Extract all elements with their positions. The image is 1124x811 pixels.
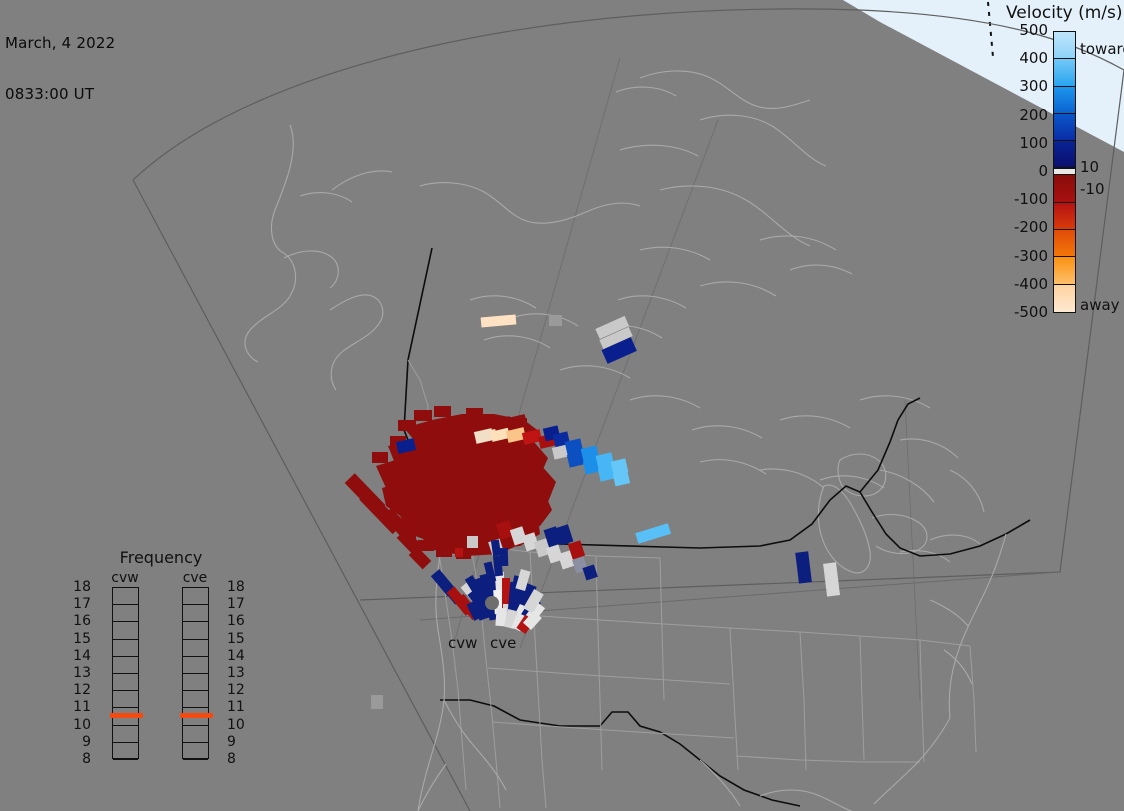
frequency-scale-tick: 11 bbox=[69, 700, 91, 714]
ground-scatter-lower-label: -10 bbox=[1080, 180, 1105, 198]
frequency-scale-tick: 10 bbox=[227, 718, 249, 732]
away-label: away bbox=[1080, 296, 1120, 314]
frequency-scale-tick: 11 bbox=[227, 700, 249, 714]
ground-scatter-upper-label: 10 bbox=[1080, 158, 1099, 176]
frequency-scale-tick: 14 bbox=[227, 649, 249, 663]
toward-label: toward bbox=[1080, 40, 1124, 58]
colorbar-tick-500: 500 bbox=[1019, 21, 1048, 39]
colorbar-band--400__-300 bbox=[1054, 257, 1075, 284]
frequency-panel-title: Frequency bbox=[85, 548, 237, 567]
colorbar-tick-0: 0 bbox=[1038, 162, 1048, 180]
frequency-bar-segment bbox=[113, 622, 138, 639]
frequency-scale-tick: 17 bbox=[227, 597, 249, 611]
frequency-bar-segment bbox=[183, 605, 208, 622]
frequency-scale-tick: 8 bbox=[227, 752, 249, 766]
colorbar-tick-neg200: -200 bbox=[1014, 218, 1048, 236]
colorbar-band-400__500 bbox=[1054, 32, 1075, 59]
frequency-scale-tick: 18 bbox=[227, 580, 249, 594]
colorbar-tick-200: 200 bbox=[1019, 106, 1048, 124]
timestamp-time: 0833:00 UT bbox=[5, 86, 115, 103]
frequency-bar-segment bbox=[183, 657, 208, 674]
frequency-scale-tick: 13 bbox=[227, 666, 249, 680]
frequency-bar-segment bbox=[183, 726, 208, 743]
timestamp: March, 4 2022 0833:00 UT bbox=[5, 1, 115, 137]
site-label-cve: cve bbox=[490, 634, 516, 652]
colorbar-tick-neg300: -300 bbox=[1014, 247, 1048, 265]
colorbar-band--500__-400 bbox=[1054, 285, 1075, 312]
frequency-scale-tick: 9 bbox=[69, 735, 91, 749]
frequency-scale-tick: 12 bbox=[69, 683, 91, 697]
frequency-scale-tick: 9 bbox=[227, 735, 249, 749]
colorbar-band--100__-10 bbox=[1054, 175, 1075, 202]
frequency-scale-cvw: 18171615141312111098 bbox=[69, 587, 91, 759]
frequency-bar-segment bbox=[113, 588, 138, 605]
frequency-scale-tick: 15 bbox=[227, 632, 249, 646]
colorbar-band-300__400 bbox=[1054, 59, 1075, 86]
frequency-bar-segment bbox=[113, 657, 138, 674]
velocity-legend: Velocity (m/s) 5004003002001000-100-200-… bbox=[960, 0, 1124, 330]
frequency-column-label-cvw: cvw bbox=[95, 570, 155, 587]
frequency-scale-tick: 16 bbox=[227, 614, 249, 628]
frequency-bar-segment bbox=[113, 726, 138, 743]
frequency-bar-segment bbox=[113, 691, 138, 708]
frequency-bar-segment bbox=[183, 691, 208, 708]
colorbar-band-100__200 bbox=[1054, 114, 1075, 141]
colorbar-tick-100: 100 bbox=[1019, 134, 1048, 152]
colorbar-tick-neg100: -100 bbox=[1014, 190, 1048, 208]
velocity-legend-title: Velocity (m/s) bbox=[1006, 3, 1123, 23]
frequency-panel: Frequency cvw18171615141312111098cve1817… bbox=[85, 548, 237, 800]
colorbar-band--200__-100 bbox=[1054, 203, 1075, 230]
velocity-colorbar bbox=[1053, 31, 1076, 313]
frequency-marker-cve bbox=[180, 713, 213, 718]
frequency-marker-cvw bbox=[110, 713, 143, 718]
colorbar-tick-300: 300 bbox=[1019, 77, 1048, 95]
timestamp-date: March, 4 2022 bbox=[5, 35, 115, 52]
frequency-column-label-cve: cve bbox=[165, 570, 225, 587]
site-label-cvw: cvw bbox=[448, 634, 477, 652]
colorbar-band-200__300 bbox=[1054, 87, 1075, 114]
colorbar-band-10__100 bbox=[1054, 141, 1075, 168]
frequency-bar-segment bbox=[183, 743, 208, 760]
frequency-scale-tick: 12 bbox=[227, 683, 249, 697]
frequency-scale-cve: 18171615141312111098 bbox=[227, 587, 249, 759]
frequency-bar-segment bbox=[183, 588, 208, 605]
frequency-bar-segment bbox=[183, 640, 208, 657]
frequency-bar-cve bbox=[182, 587, 209, 759]
colorbar-tick-neg400: -400 bbox=[1014, 275, 1048, 293]
colorbar-band-ground-scatter bbox=[1054, 168, 1075, 175]
frequency-scale-tick: 15 bbox=[69, 632, 91, 646]
radar-fan-plot: March, 4 2022 0833:00 UT Velocity (m/s) … bbox=[0, 0, 1124, 811]
frequency-bar-segment bbox=[113, 605, 138, 622]
colorbar-tick-400: 400 bbox=[1019, 49, 1048, 67]
frequency-bar-segment bbox=[113, 743, 138, 760]
frequency-scale-tick: 14 bbox=[69, 649, 91, 663]
frequency-bar-segment bbox=[183, 622, 208, 639]
radar-site-dot bbox=[485, 596, 499, 610]
frequency-bar-segment bbox=[113, 640, 138, 657]
frequency-bar-segment bbox=[183, 674, 208, 691]
frequency-scale-tick: 18 bbox=[69, 580, 91, 594]
colorbar-tick-neg500: -500 bbox=[1014, 303, 1048, 321]
frequency-scale-tick: 16 bbox=[69, 614, 91, 628]
frequency-scale-tick: 13 bbox=[69, 666, 91, 680]
frequency-scale-tick: 8 bbox=[69, 752, 91, 766]
frequency-column-cvw: cvw bbox=[95, 570, 155, 759]
colorbar-band--300__-200 bbox=[1054, 230, 1075, 257]
frequency-bar-cvw bbox=[112, 587, 139, 759]
frequency-scale-tick: 10 bbox=[69, 718, 91, 732]
frequency-bar-segment bbox=[113, 674, 138, 691]
frequency-column-cve: cve bbox=[165, 570, 225, 759]
frequency-scale-tick: 17 bbox=[69, 597, 91, 611]
